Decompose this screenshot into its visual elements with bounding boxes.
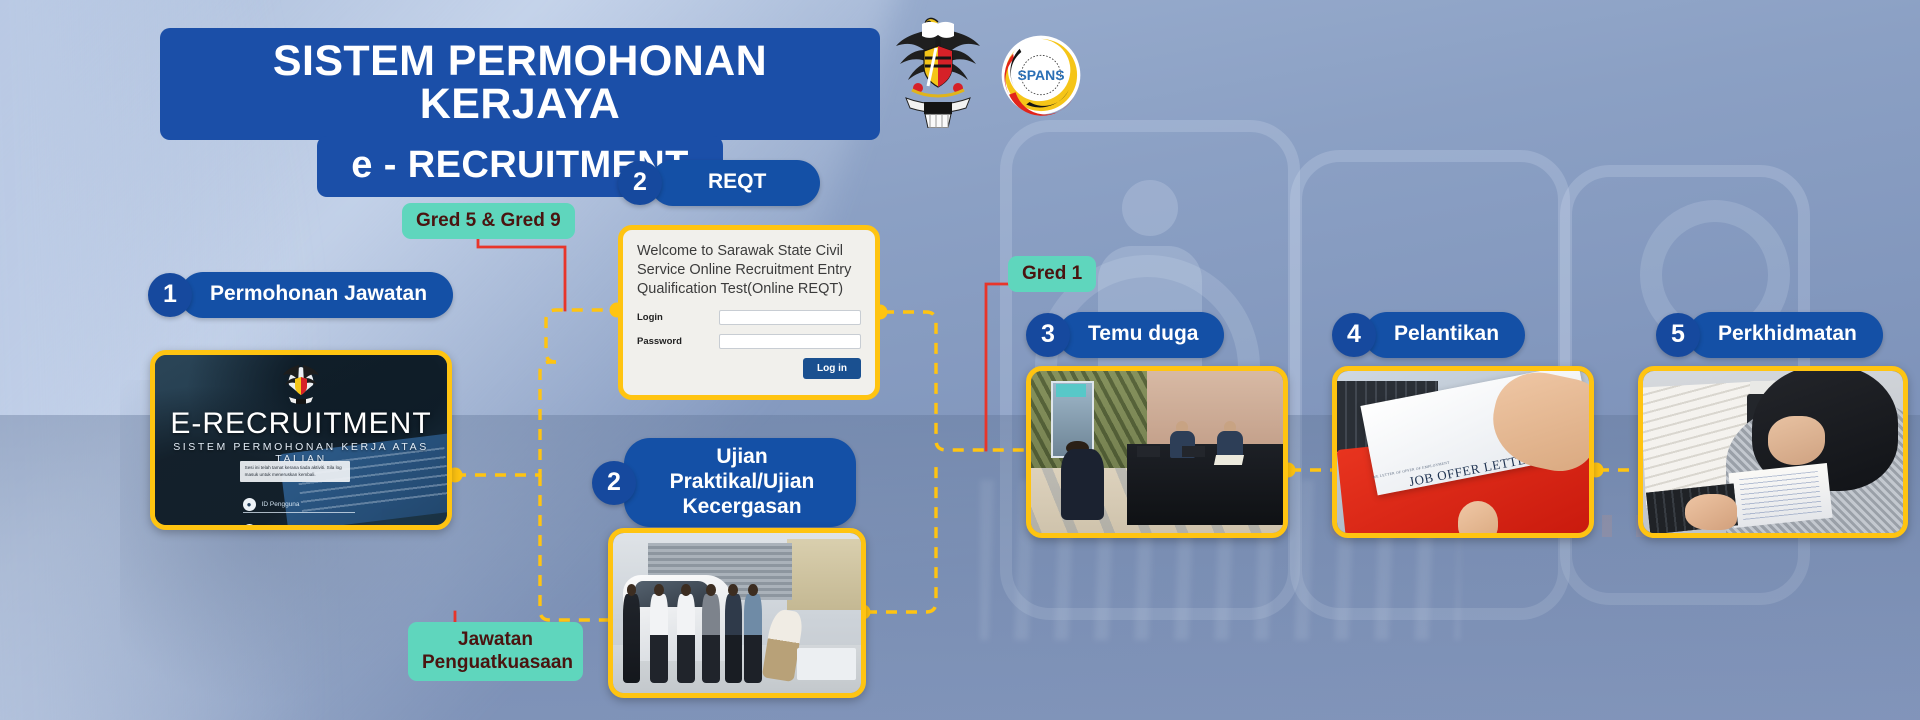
practical-test-scene	[613, 533, 861, 693]
tag-gred-5-and-9: Gred 5 & Gred 9	[402, 203, 575, 239]
step-2-label: REQT	[650, 160, 820, 206]
interview-panel-photo[interactable]	[1026, 366, 1288, 538]
user-icon: ●	[243, 498, 256, 511]
step-4-label: Pelantikan	[1364, 312, 1525, 358]
reqt-login-input[interactable]	[719, 310, 861, 325]
interview-scene	[1031, 371, 1283, 533]
step-2-practical-badge[interactable]: 2 Ujian Praktikal/Ujian Kecergasan	[592, 438, 856, 527]
step-2-practical-number: 2	[592, 461, 636, 505]
reqt-login-panel[interactable]: Welcome to Sarawak State Civil Service O…	[618, 225, 880, 400]
step-5-label: Perkhidmatan	[1688, 312, 1883, 358]
step-5-number: 5	[1656, 313, 1700, 357]
tag-jawatan-penguatkuasaan: Jawatan Penguatkuasaan	[408, 622, 583, 681]
reqt-password-row: Password	[637, 334, 861, 349]
step-1-number: 1	[148, 273, 192, 317]
step-4-number: 4	[1332, 313, 1376, 357]
job-offer-scene: WE LETTER OF OFFER OF EMPLOYMENT JOB OFF…	[1337, 371, 1589, 533]
step-1-label: Permohonan Jawatan	[180, 272, 453, 318]
reqt-password-input[interactable]	[719, 334, 861, 349]
step-1-badge[interactable]: 1 Permohonan Jawatan	[148, 272, 453, 318]
spans-logo-text: SPANS	[1018, 67, 1065, 83]
step-3-badge[interactable]: 3 Temu duga	[1026, 312, 1224, 358]
tag-gred-1: Gred 1	[1008, 256, 1096, 292]
office-service-scene	[1643, 371, 1903, 533]
step-2-practical-label: Ujian Praktikal/Ujian Kecergasan	[624, 438, 856, 527]
erecruitment-user-field[interactable]: ● ID Pengguna	[243, 497, 355, 513]
lock-icon: 🔒	[243, 524, 256, 530]
session-expired-notice: Sesi ini telah tamat kerana tiada aktivi…	[240, 461, 350, 482]
reqt-login-row: Login	[637, 310, 861, 325]
page-title-line1: SISTEM PERMOHONAN KERJAYA	[160, 28, 880, 140]
step-5-badge[interactable]: 5 Perkhidmatan	[1656, 312, 1883, 358]
step-4-badge[interactable]: 4 Pelantikan	[1332, 312, 1525, 358]
erecruitment-user-label: ID Pengguna	[262, 501, 300, 508]
job-offer-letter-photo[interactable]: WE LETTER OF OFFER OF EMPLOYMENT JOB OFF…	[1332, 366, 1594, 538]
erecruitment-login-card[interactable]: E-RECRUITMENT SISTEM PERMOHONAN KERJA AT…	[150, 350, 452, 530]
reqt-login-label: Login	[637, 312, 719, 323]
step-3-number: 3	[1026, 313, 1070, 357]
reqt-button-row: Log in	[637, 358, 861, 379]
reqt-login-button[interactable]: Log in	[803, 358, 861, 379]
step-3-label: Temu duga	[1058, 312, 1224, 358]
mini-crest-icon	[282, 361, 320, 407]
erecruitment-password-field[interactable]: 🔒 Kata Laluan	[243, 523, 355, 530]
practical-test-photo[interactable]	[608, 528, 866, 698]
sarawak-crest-icon	[892, 6, 984, 128]
reqt-password-label: Password	[637, 336, 719, 347]
reqt-welcome-text: Welcome to Sarawak State Civil Service O…	[637, 242, 861, 299]
erecruitment-title: E-RECRUITMENT	[155, 407, 447, 441]
office-service-photo[interactable]	[1638, 366, 1908, 538]
erecruitment-password-label: Kata Laluan	[262, 527, 297, 530]
step-2-reqt-badge[interactable]: 2 REQT	[618, 160, 820, 206]
step-2-number: 2	[618, 161, 662, 205]
spans-logo-icon: SPANS	[1000, 34, 1082, 116]
